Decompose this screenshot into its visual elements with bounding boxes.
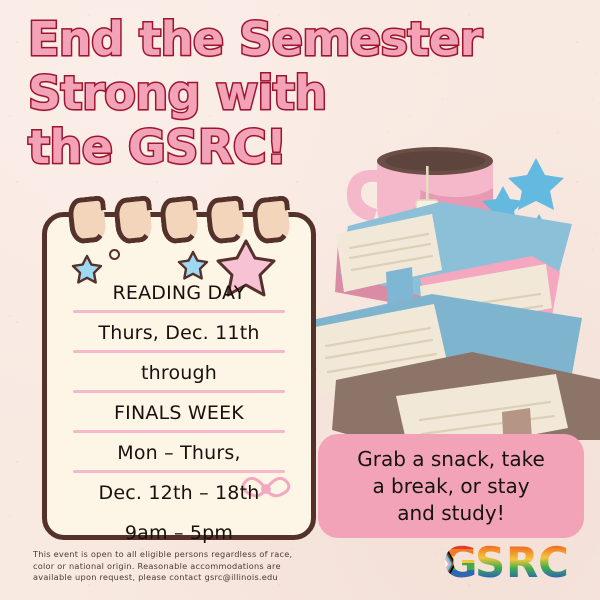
spiral-ring — [205, 195, 246, 245]
books-illustration-svg — [300, 130, 600, 440]
spiral-ring — [113, 195, 154, 245]
title-line-2: Strong with — [28, 66, 588, 120]
gsrc-logo-svg: G S R C — [443, 541, 573, 587]
logo-letter-c: C — [538, 541, 569, 587]
callout-line-1: Grab a snack, take — [357, 446, 545, 473]
notepad-row: READING DAY — [61, 273, 297, 313]
notepad-row: through — [61, 353, 297, 393]
notepad-row-text: Thurs, Dec. 11th — [98, 322, 259, 344]
notepad-card: READING DAY Thurs, Dec. 11th through FIN… — [42, 212, 316, 540]
callout-box: Grab a snack, take a break, or stay and … — [318, 434, 584, 538]
notepad-text-block: READING DAY Thurs, Dec. 11th through FIN… — [47, 217, 311, 535]
spiral-ring — [251, 195, 292, 245]
accessibility-disclaimer: This event is open to all eligible perso… — [33, 549, 333, 584]
disclaimer-line-3: available upon request, please contact g… — [33, 572, 333, 584]
logo-letter-r: R — [506, 541, 538, 587]
notepad-row: Thurs, Dec. 11th — [61, 313, 297, 353]
notepad-row-text: Mon – Thurs, — [117, 442, 240, 464]
gsrc-logo: G S R C — [443, 541, 573, 587]
notepad-row-text: through — [141, 362, 217, 384]
notepad-row-text: READING DAY — [112, 282, 245, 304]
title-line-1: End the Semester — [28, 12, 588, 66]
notepad-row: Dec. 12th – 18th — [61, 473, 297, 513]
logo-letter-g — [443, 541, 477, 587]
callout-line-2: a break, or stay — [372, 473, 529, 500]
notepad-row-text: Dec. 12th – 18th — [99, 482, 260, 504]
spiral-ring — [67, 195, 108, 245]
disclaimer-line-2: color or national origin. Reasonable acc… — [33, 561, 333, 573]
callout-line-3: and study! — [397, 500, 504, 527]
poster-canvas: End the Semester Strong with the GSRC! R… — [0, 0, 600, 600]
logo-letter-s: S — [475, 541, 505, 587]
spiral-ring — [159, 195, 200, 245]
disclaimer-line-1: This event is open to all eligible perso… — [33, 549, 333, 561]
page-title: End the Semester Strong with the GSRC! — [28, 12, 588, 174]
notepad-row-text: 9am – 5pm — [125, 522, 233, 544]
notepad-row: Mon – Thurs, — [61, 433, 297, 473]
title-line-3: the GSRC! — [28, 120, 588, 174]
notepad-row-text: FINALS WEEK — [114, 402, 244, 424]
books-and-mug-illustration — [300, 130, 600, 440]
notepad-row: 9am – 5pm — [61, 513, 297, 553]
notepad-row: FINALS WEEK — [61, 393, 297, 433]
